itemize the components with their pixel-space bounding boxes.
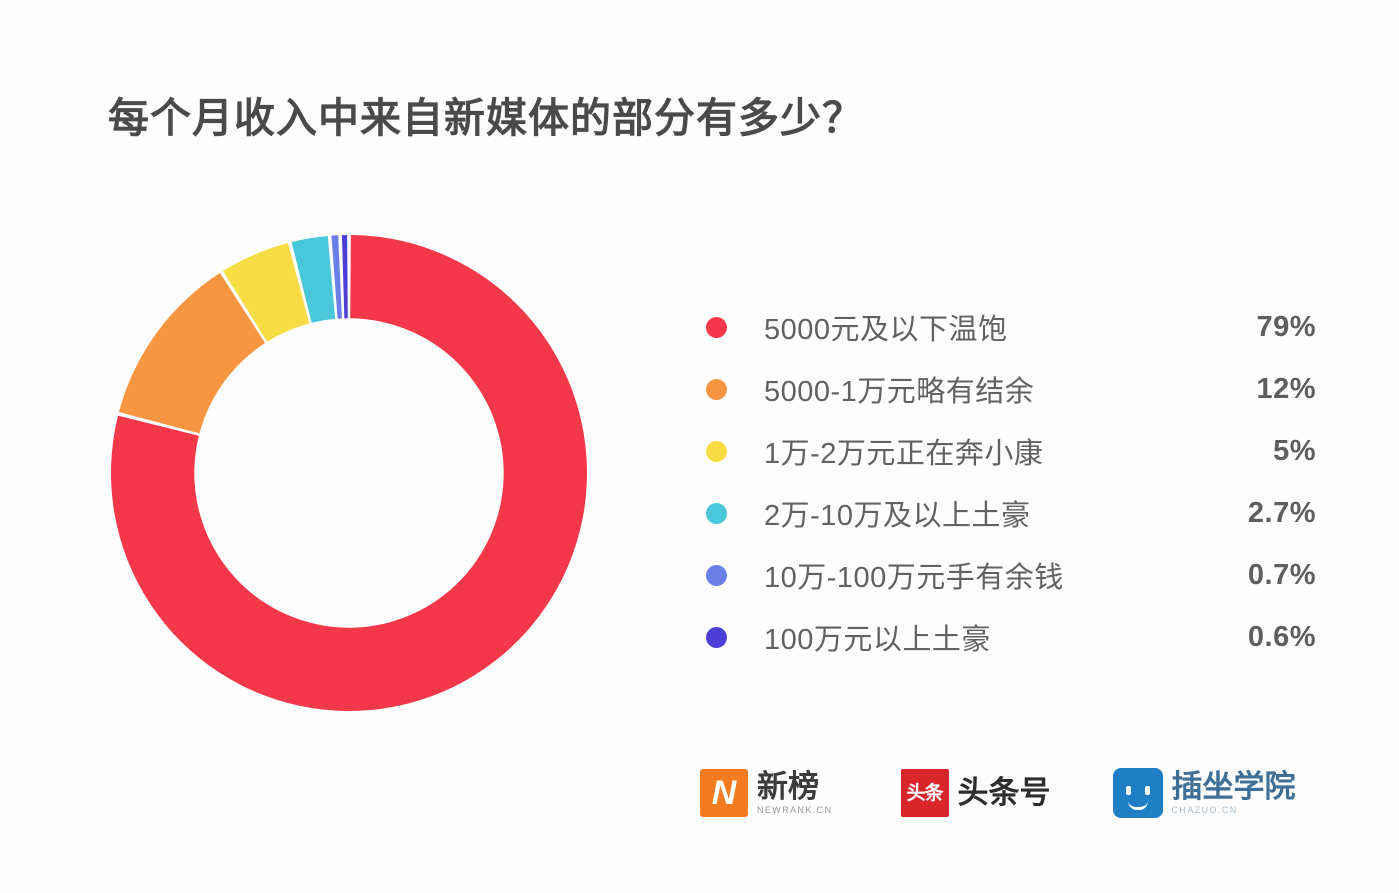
legend-label-0: 5000元及以下温饱 [764, 306, 1206, 348]
newrank-name: 新榜 [757, 771, 833, 803]
legend-swatch-icon-2 [706, 441, 727, 462]
toutiao-name: 头条号 [958, 777, 1051, 809]
legend-swatch-icon-0 [706, 317, 727, 338]
legend-item-3[interactable]: 2万-10万及以上土豪 2.7% [706, 482, 1316, 544]
donut-chart [108, 232, 590, 714]
legend-value-0: 79% [1206, 311, 1316, 344]
legend-value-4: 0.7% [1206, 559, 1316, 592]
donut-slice-group [111, 235, 587, 711]
donut-chart-svg [108, 232, 590, 714]
logo-chazuo-academy[interactable]: 插坐学院 CHAZUO.CN [1113, 768, 1296, 818]
logo-newrank[interactable]: N 新榜 NEWRANK.CN [700, 769, 833, 817]
chazuo-name: 插坐学院 [1172, 771, 1296, 803]
newrank-mark-icon: N [700, 769, 748, 817]
legend-label-4: 10万-100万元手有余钱 [764, 554, 1206, 596]
legend-label-1: 5000-1万元略有结余 [764, 368, 1206, 410]
toutiao-mark-icon: 头条 [901, 769, 949, 817]
chazuo-text: 插坐学院 CHAZUO.CN [1172, 771, 1296, 816]
chazuo-face-icon [1113, 768, 1163, 818]
legend-swatch-icon-5 [706, 627, 727, 648]
legend-item-4[interactable]: 10万-100万元手有余钱 0.7% [706, 544, 1316, 606]
chart-legend: 5000元及以下温饱 79% 5000-1万元略有结余 12% 1万-2万元正在… [706, 296, 1316, 668]
logo-toutiaohao[interactable]: 头条 头条号 [901, 769, 1051, 817]
chazuo-sub: CHAZUO.CN [1172, 805, 1296, 815]
newrank-text: 新榜 NEWRANK.CN [757, 771, 833, 816]
slide-canvas: 每个月收入中来自新媒体的部分有多少？ 5000元及以下温饱 79% 5000-1… [0, 0, 1399, 893]
logo-bar: N 新榜 NEWRANK.CN 头条 头条号 插坐学院 [700, 768, 1296, 818]
face-eye-left-icon [1126, 786, 1131, 795]
legend-label-5: 100万元以上土豪 [764, 616, 1206, 658]
newrank-mark-glyph: N [700, 769, 748, 817]
newrank-sub: NEWRANK.CN [757, 805, 833, 815]
toutiao-text: 头条号 [958, 777, 1051, 809]
legend-item-5[interactable]: 100万元以上土豪 0.6% [706, 606, 1316, 668]
toutiao-mark-glyph: 头条 [901, 769, 949, 817]
page-title: 每个月收入中来自新媒体的部分有多少？ [108, 84, 864, 144]
legend-item-0[interactable]: 5000元及以下温饱 79% [706, 296, 1316, 358]
legend-label-3: 2万-10万及以上土豪 [764, 492, 1206, 534]
legend-swatch-icon-4 [706, 565, 727, 586]
legend-item-2[interactable]: 1万-2万元正在奔小康 5% [706, 420, 1316, 482]
legend-swatch-icon-1 [706, 379, 727, 400]
face-mouth-icon [1128, 801, 1148, 810]
legend-value-5: 0.6% [1206, 621, 1316, 654]
legend-swatch-icon-3 [706, 503, 727, 524]
legend-value-3: 2.7% [1206, 497, 1316, 530]
face-eye-right-icon [1145, 786, 1150, 795]
legend-value-1: 12% [1206, 373, 1316, 406]
legend-item-1[interactable]: 5000-1万元略有结余 12% [706, 358, 1316, 420]
donut-slice[interactable] [342, 235, 348, 318]
legend-label-2: 1万-2万元正在奔小康 [764, 430, 1206, 472]
legend-value-2: 5% [1206, 435, 1316, 468]
